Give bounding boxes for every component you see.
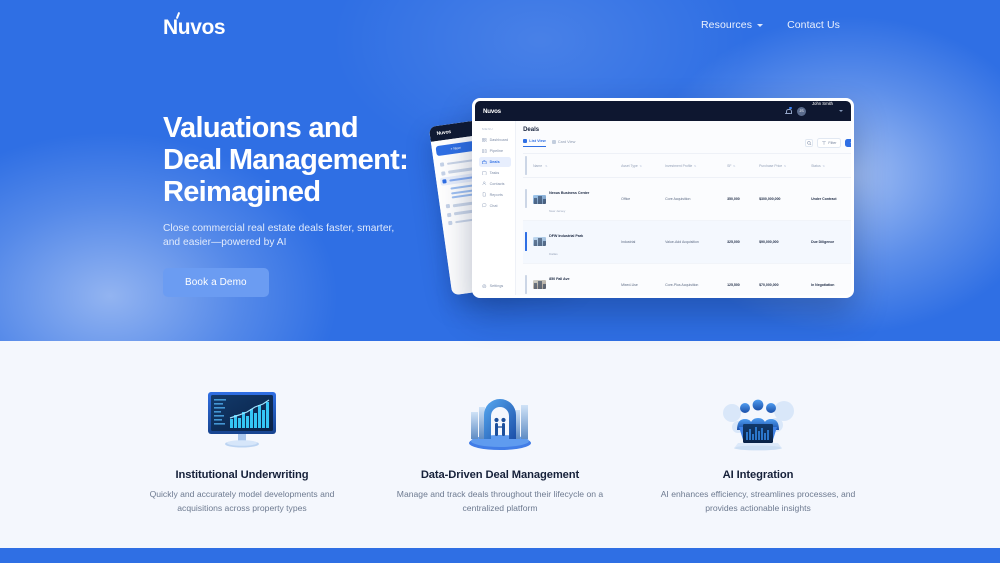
edit-icon[interactable] xyxy=(853,283,854,287)
app-sidebar: MENU Dashboard Pipeline Deals xyxy=(475,121,516,297)
property-thumbnail xyxy=(533,237,546,246)
table-row[interactable]: Nexus Business CenterNew JerseyOfficeCor… xyxy=(523,178,854,221)
checkbox-icon[interactable] xyxy=(525,189,527,208)
cell-purchase-price: $300,000,000 xyxy=(759,197,811,201)
filter-icon xyxy=(822,141,826,145)
app-body: MENU Dashboard Pipeline Deals xyxy=(475,121,851,297)
chevron-down-icon xyxy=(757,24,763,27)
list-icon xyxy=(523,139,527,143)
deal-name: Nexus Business Center xyxy=(549,191,589,195)
sort-icon: ⇅ xyxy=(822,164,825,168)
hero-title-line-1: Valuations and xyxy=(163,112,358,144)
deal-name: 850 Fall Ave xyxy=(549,277,569,281)
cell-purchase-price: $70,000,000 xyxy=(759,283,811,287)
tab-card-view-label: Card View xyxy=(558,140,575,144)
tab-list-view[interactable]: List View xyxy=(523,139,546,146)
hero-subtitle: Close commercial real estate deals faste… xyxy=(163,222,407,250)
deals-app-window: Nuvos JS John Smith Analyst MENU xyxy=(472,98,854,298)
sidebar-item-reports-label: Reports xyxy=(490,193,503,197)
column-header-asset-type[interactable]: Asset Type⇅ xyxy=(621,164,665,168)
columns-icon xyxy=(482,149,487,154)
feature-ai-integration: AI Integration AI enhances efficiency, s… xyxy=(643,383,873,548)
city-archway-illustration xyxy=(459,385,541,455)
sidebar-item-tasks[interactable]: Tasks xyxy=(479,168,511,178)
table-header-row: Name⇅ Asset Type⇅ Investment Profile⇅ SF… xyxy=(523,153,854,178)
row-select-cell[interactable] xyxy=(523,190,533,208)
deals-page-title: Deals xyxy=(523,127,854,133)
table-row[interactable]: 850 Fall AveDetroitMixed-UseCore-Plus Ac… xyxy=(523,264,854,298)
feature-data-driven-deal-management: Data-Driven Deal Management Manage and t… xyxy=(385,383,615,548)
edit-icon[interactable] xyxy=(853,240,854,244)
sort-icon: ⇅ xyxy=(784,164,787,168)
nav-item-resources-label: Resources xyxy=(701,19,752,31)
deal-location: New Jersey xyxy=(549,209,565,213)
row-select-cell[interactable] xyxy=(523,276,533,294)
table-row[interactable]: DFW Industrial ParkDallasIndustrialValue… xyxy=(523,221,854,264)
monitor-chart-icon xyxy=(127,383,357,455)
features-section: Institutional Underwriting Quickly and a… xyxy=(0,341,1000,548)
nav-item-contact-us[interactable]: Contact Us xyxy=(787,19,840,31)
team-laptop-icon xyxy=(643,383,873,455)
chevron-down-icon[interactable] xyxy=(839,110,843,112)
file-icon xyxy=(482,192,487,197)
filter-label: Filter xyxy=(828,141,836,145)
sidebar-item-settings-label: Settings xyxy=(490,284,504,288)
hero-title-line-2: Deal Management: xyxy=(163,144,408,176)
table-body: Nexus Business CenterNew JerseyOfficeCor… xyxy=(523,178,854,298)
page-title: Valuations and Deal Management: Reimagin… xyxy=(163,112,463,208)
app-content: Deals List View Card View xyxy=(516,121,854,297)
hero-title-line-3: Reimagined xyxy=(163,176,320,208)
feature-description: Quickly and accurately model development… xyxy=(127,488,357,515)
feature-title: AI Integration xyxy=(643,469,873,481)
deal-location: Detroit xyxy=(549,295,558,298)
sidebar-item-pipeline-label: Pipeline xyxy=(490,149,504,153)
nav-item-resources[interactable]: Resources xyxy=(701,19,763,31)
app-logo[interactable]: Nuvos xyxy=(483,108,501,115)
deal-location: Dallas xyxy=(549,252,558,256)
cell-name: Nexus Business CenterNew Jersey xyxy=(533,181,621,217)
sidebar-item-tasks-label: Tasks xyxy=(490,171,500,175)
cell-sf: 350,000 xyxy=(727,197,759,201)
tab-list-view-label: List View xyxy=(529,139,545,143)
checkbox-icon[interactable] xyxy=(525,156,527,175)
property-thumbnail xyxy=(533,195,546,204)
sidebar-item-deals[interactable]: Deals xyxy=(479,157,511,167)
property-thumbnail xyxy=(533,280,546,289)
feature-description: AI enhances efficiency, streamlines proc… xyxy=(643,488,873,515)
landing-page: Nuvos Resources Contact Us Valuations an… xyxy=(0,0,1000,563)
tab-card-view[interactable]: Card View xyxy=(552,139,576,146)
app-topbar: Nuvos JS John Smith Analyst xyxy=(475,101,851,121)
row-select-cell[interactable] xyxy=(523,233,533,251)
nav-item-contact-us-label: Contact Us xyxy=(787,19,840,31)
monitor-chart-illustration xyxy=(199,385,285,455)
deals-table: Name⇅ Asset Type⇅ Investment Profile⇅ SF… xyxy=(523,153,854,298)
feature-description: Manage and track deals throughout their … xyxy=(385,488,615,515)
toolbar-actions: Filter + Add Deal xyxy=(805,138,854,148)
deal-name: DFW Industrial Park xyxy=(549,234,583,238)
hero-copy: Valuations and Deal Management: Reimagin… xyxy=(163,112,463,297)
sidebar-item-chat-label: Chat xyxy=(490,204,498,208)
grid-icon xyxy=(482,138,487,143)
sidebar-item-deals-label: Deals xyxy=(490,160,500,164)
bottom-accent-strip xyxy=(0,548,1000,563)
chat-icon xyxy=(482,203,487,208)
notifications-bell-icon[interactable] xyxy=(785,108,791,115)
cell-actions xyxy=(853,240,854,244)
sort-icon: ⇅ xyxy=(545,164,548,168)
sidebar-item-contacts[interactable]: Contacts xyxy=(479,179,511,189)
column-header-name[interactable]: Name⇅ xyxy=(533,164,621,168)
top-navigation: Nuvos Resources Contact Us xyxy=(0,0,1000,52)
sidebar-item-contacts-label: Contacts xyxy=(490,182,505,186)
cell-investment-profile: Core Acquisition xyxy=(665,197,727,201)
sidebar-item-dashboard-label: Dashboard xyxy=(490,138,509,142)
users-icon xyxy=(482,181,487,186)
search-button[interactable] xyxy=(805,139,813,147)
search-icon xyxy=(807,141,811,145)
brand-logo[interactable]: Nuvos xyxy=(163,16,225,40)
sidebar-item-pipeline[interactable]: Pipeline xyxy=(479,146,511,156)
cell-name: DFW Industrial ParkDallas xyxy=(533,224,621,260)
sidebar-item-settings[interactable]: Settings xyxy=(479,281,506,291)
cell-asset-type: Mixed-Use xyxy=(621,283,665,287)
feature-institutional-underwriting: Institutional Underwriting Quickly and a… xyxy=(127,383,357,548)
sidebar-item-dashboard[interactable]: Dashboard xyxy=(479,135,511,145)
column-header-investment-profile[interactable]: Investment Profile⇅ xyxy=(665,164,727,168)
cell-status: Under Contract xyxy=(811,197,853,201)
view-tabs: List View Card View xyxy=(523,139,575,146)
logo-text: uvos xyxy=(178,16,225,40)
cell-investment-profile: Value-Add Acquisition xyxy=(665,240,727,244)
sidebar-item-chat[interactable]: Chat xyxy=(479,201,511,211)
book-a-demo-button[interactable]: Book a Demo xyxy=(163,268,269,297)
deals-toolbar: List View Card View xyxy=(523,138,854,148)
column-header-actions: Actions xyxy=(853,164,854,168)
avatar[interactable]: JS xyxy=(797,107,806,116)
add-deal-button[interactable]: + Add Deal xyxy=(845,139,854,148)
check-square-icon xyxy=(482,171,487,176)
feature-title: Institutional Underwriting xyxy=(127,469,357,481)
edit-icon[interactable] xyxy=(853,197,854,201)
city-archway-icon xyxy=(385,383,615,455)
cell-investment-profile: Core-Plus Acquisition xyxy=(665,283,727,287)
column-header-purchase-price[interactable]: Purchase Price⇅ xyxy=(759,164,811,168)
logo-n-mark: N xyxy=(163,16,178,40)
cell-sf: 125,500 xyxy=(727,283,759,287)
briefcase-icon xyxy=(482,160,487,165)
team-laptop-illustration xyxy=(716,385,800,455)
filter-button[interactable]: Filter xyxy=(817,138,841,148)
user-name: John Smith xyxy=(812,101,833,106)
product-screenshot: Nuvos + New xyxy=(430,96,870,316)
column-header-status[interactable]: Status⇅ xyxy=(811,164,853,168)
gear-icon xyxy=(482,284,487,289)
cell-sf: 325,000 xyxy=(727,240,759,244)
sidebar-menu-header: MENU xyxy=(479,127,511,131)
checkbox-icon[interactable] xyxy=(525,275,527,294)
nav-links: Resources Contact Us xyxy=(701,19,840,31)
cell-name: 850 Fall AveDetroit xyxy=(533,267,621,298)
plus-icon: + xyxy=(850,141,852,145)
cards-icon xyxy=(552,140,556,144)
cell-status: Due Diligence xyxy=(811,240,853,244)
sort-icon: ⇅ xyxy=(639,164,642,168)
sort-icon: ⇅ xyxy=(694,164,697,168)
select-all-cell[interactable] xyxy=(523,157,533,175)
cell-asset-type: Office xyxy=(621,197,665,201)
sort-icon: ⇅ xyxy=(733,164,736,168)
cell-asset-type: Industrial xyxy=(621,240,665,244)
notification-dot xyxy=(789,107,792,110)
sidebar-item-reports[interactable]: Reports xyxy=(479,190,511,200)
feature-title: Data-Driven Deal Management xyxy=(385,469,615,481)
cell-status: In Negotiation xyxy=(811,283,853,287)
checkbox-icon[interactable] xyxy=(525,232,527,251)
cell-actions xyxy=(853,197,854,201)
column-header-sf[interactable]: SF⇅ xyxy=(727,164,759,168)
cell-actions xyxy=(853,283,854,287)
cell-purchase-price: $90,000,000 xyxy=(759,240,811,244)
